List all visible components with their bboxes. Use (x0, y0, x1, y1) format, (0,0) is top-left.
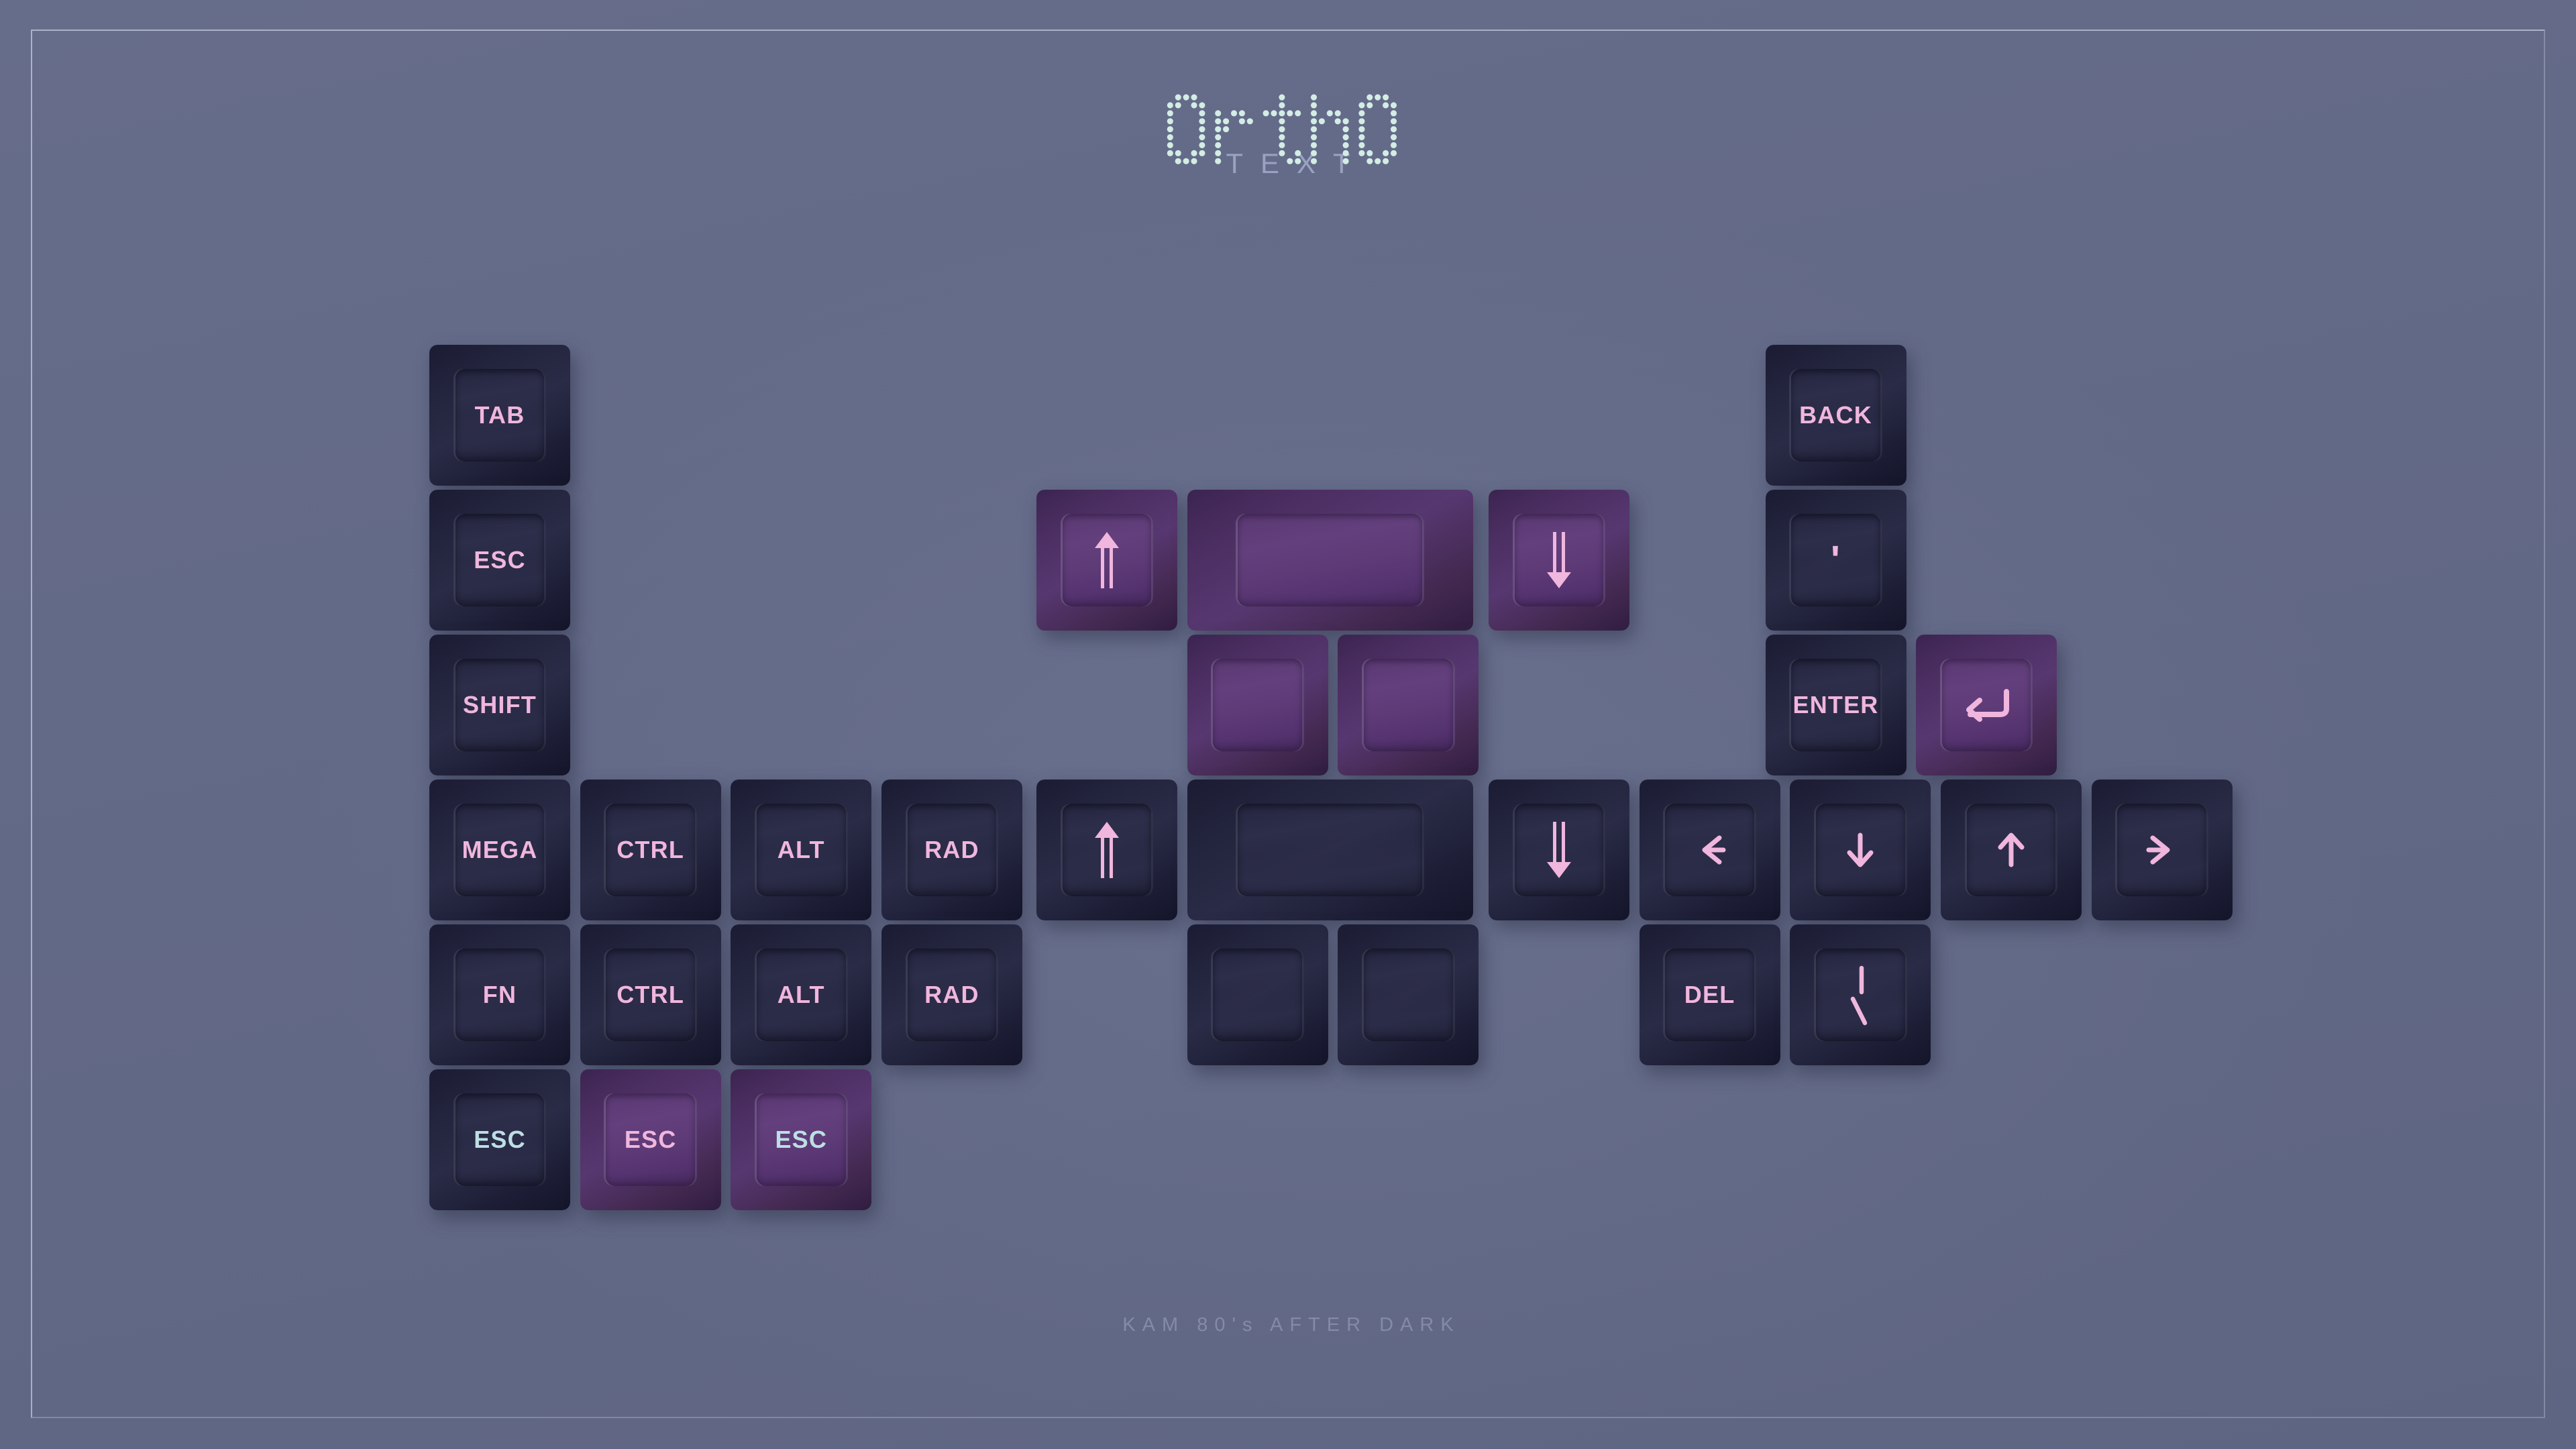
key-blank-dark-a[interactable] (1187, 924, 1328, 1065)
key-esc-purple-pink[interactable]: ESC (580, 1069, 721, 1210)
key-double-down[interactable] (1489, 780, 1629, 920)
footer-colorway-name: KAM 80's AFTER DARK (0, 1314, 2576, 1336)
key-shift[interactable]: SHIFT (429, 635, 570, 775)
keycap-legend: ESC (731, 1069, 871, 1210)
key-arrow-down[interactable] (1790, 780, 1931, 920)
pipe-backslash-icon (1790, 924, 1931, 1065)
keycap-render-scene: TEXT TABBACKESC 'SHIFTENTER MEGACTRLALTR… (0, 0, 2576, 1449)
keycap-legend: ' (1766, 490, 1907, 631)
key-spacebar[interactable] (1187, 780, 1473, 920)
key-blank-purple-2u[interactable] (1187, 490, 1473, 631)
arrow-right-icon (2092, 780, 2233, 920)
keycap-legend: ENTER (1766, 635, 1907, 775)
keycap-legend: CTRL (580, 924, 721, 1065)
keycap-legend: ALT (731, 780, 871, 920)
key-apostrophe[interactable]: ' (1766, 490, 1907, 631)
arrow-double-up-icon (1036, 490, 1177, 631)
arrow-double-down-icon (1489, 490, 1629, 631)
keycap-legend (1187, 780, 1473, 920)
arrow-double-down-icon (1489, 780, 1629, 920)
key-rad-r4[interactable]: RAD (881, 780, 1022, 920)
key-double-up[interactable] (1036, 780, 1177, 920)
key-rad-r5[interactable]: RAD (881, 924, 1022, 1065)
arrow-return-icon (1916, 635, 2057, 775)
keycap-legend: CTRL (580, 780, 721, 920)
key-enter[interactable]: ENTER (1766, 635, 1907, 775)
key-alt-r4[interactable]: ALT (731, 780, 871, 920)
key-back[interactable]: BACK (1766, 345, 1907, 486)
key-blank-purple-b[interactable] (1338, 635, 1479, 775)
keycap-legend: ESC (429, 1069, 570, 1210)
key-ctrl-r4[interactable]: CTRL (580, 780, 721, 920)
keycap-legend: ESC (429, 490, 570, 631)
key-shift-lock-down[interactable] (1489, 490, 1629, 631)
keycap-legend (1187, 490, 1473, 631)
key-del[interactable]: DEL (1640, 924, 1780, 1065)
keycap-legend (1338, 924, 1479, 1065)
keycap-legend: BACK (1766, 345, 1907, 486)
arrow-left-icon (1640, 780, 1780, 920)
key-backslash[interactable] (1790, 924, 1931, 1065)
keycap-legend: SHIFT (429, 635, 570, 775)
keycap-legend: ALT (731, 924, 871, 1065)
key-alt-r5[interactable]: ALT (731, 924, 871, 1065)
key-arrow-up[interactable] (1941, 780, 2082, 920)
keycap-legend: DEL (1640, 924, 1780, 1065)
keycap-legend: RAD (881, 924, 1022, 1065)
key-arrow-left[interactable] (1640, 780, 1780, 920)
keyboard-layout: TABBACKESC 'SHIFTENTER MEGACTRLALTRAD FN… (0, 0, 2576, 1449)
key-fn[interactable]: FN (429, 924, 570, 1065)
arrow-up-icon (1941, 780, 2082, 920)
key-tab[interactable]: TAB (429, 345, 570, 486)
keycap-legend (1187, 635, 1328, 775)
key-blank-purple-a[interactable] (1187, 635, 1328, 775)
arrow-down-icon (1790, 780, 1931, 920)
arrow-double-up-icon (1036, 780, 1177, 920)
keycap-legend: TAB (429, 345, 570, 486)
keycap-legend (1187, 924, 1328, 1065)
key-arrow-right[interactable] (2092, 780, 2233, 920)
key-return-arrow[interactable] (1916, 635, 2057, 775)
keycap-legend: ESC (580, 1069, 721, 1210)
key-esc-r2[interactable]: ESC (429, 490, 570, 631)
key-blank-dark-b[interactable] (1338, 924, 1479, 1065)
keycap-legend (1338, 635, 1479, 775)
key-esc-purple-mint[interactable]: ESC (731, 1069, 871, 1210)
key-ctrl-r5[interactable]: CTRL (580, 924, 721, 1065)
keycap-legend: RAD (881, 780, 1022, 920)
keycap-legend: FN (429, 924, 570, 1065)
key-esc-mint[interactable]: ESC (429, 1069, 570, 1210)
key-mega[interactable]: MEGA (429, 780, 570, 920)
key-shift-lock-up[interactable] (1036, 490, 1177, 631)
keycap-legend: MEGA (429, 780, 570, 920)
